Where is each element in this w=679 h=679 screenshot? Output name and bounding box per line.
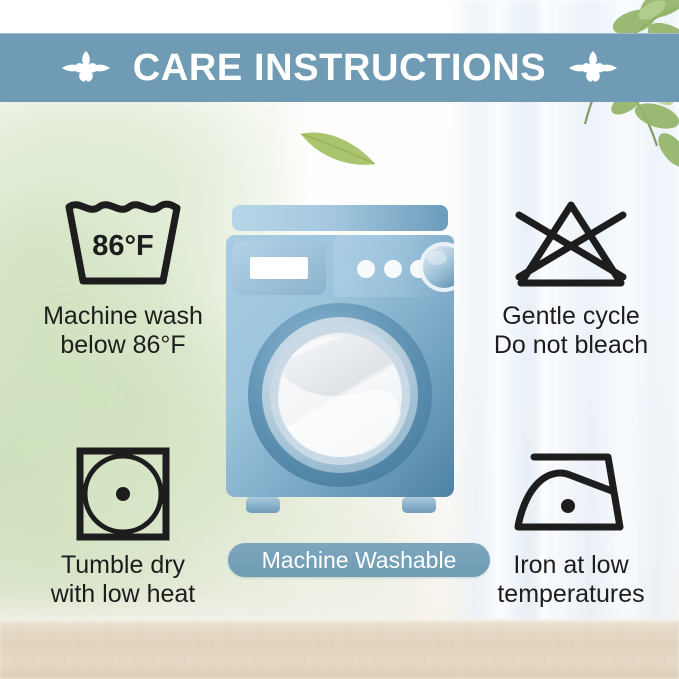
care-symbol-caption: Machine wash below 86°F	[43, 302, 203, 359]
care-instructions-poster: CARE INSTRUCTIONS 86°F Machine wash belo…	[0, 0, 679, 679]
iron-icon	[508, 445, 634, 543]
care-symbol-caption: Tumble dry with low heat	[51, 551, 196, 608]
tumble-dry-glyph	[75, 446, 171, 542]
machine-lid	[232, 205, 448, 231]
machine-indicator-dot	[357, 260, 375, 278]
wash-tub-icon: 86°F	[59, 196, 187, 294]
machine-dial-highlight	[427, 251, 447, 265]
wash-tub-temperature: 86°F	[92, 230, 154, 262]
care-symbol-do-not-bleach: Gentle cycle Do not bleach	[466, 196, 676, 359]
wash-tub-glyph: 86°F	[59, 197, 187, 293]
triangle-crossed-icon	[511, 196, 631, 294]
machine-foot	[246, 497, 280, 513]
iron-glyph	[508, 449, 634, 539]
machine-washable-badge: Machine Washable	[228, 543, 490, 577]
machine-foot	[402, 497, 436, 513]
fleur-de-lis-icon	[61, 47, 111, 89]
page-title: CARE INSTRUCTIONS	[133, 49, 546, 87]
tumble-dry-icon	[75, 445, 171, 543]
background-table-grain	[0, 621, 679, 679]
machine-drawer-handle	[250, 257, 308, 279]
fleur-de-lis-icon	[568, 47, 618, 89]
badge-label: Machine Washable	[262, 549, 457, 572]
care-symbol-caption: Iron at low temperatures	[497, 551, 644, 608]
care-symbol-machine-wash: 86°F Machine wash below 86°F	[18, 196, 228, 359]
machine-indicator-dot	[384, 260, 402, 278]
washing-machine-illustration	[226, 205, 454, 535]
care-symbol-iron-low: Iron at low temperatures	[466, 445, 676, 608]
header-banner: CARE INSTRUCTIONS	[0, 33, 679, 102]
do-not-bleach-glyph	[511, 197, 631, 293]
care-symbol-tumble-dry: Tumble dry with low heat	[18, 445, 228, 608]
care-symbol-caption: Gentle cycle Do not bleach	[494, 302, 648, 359]
